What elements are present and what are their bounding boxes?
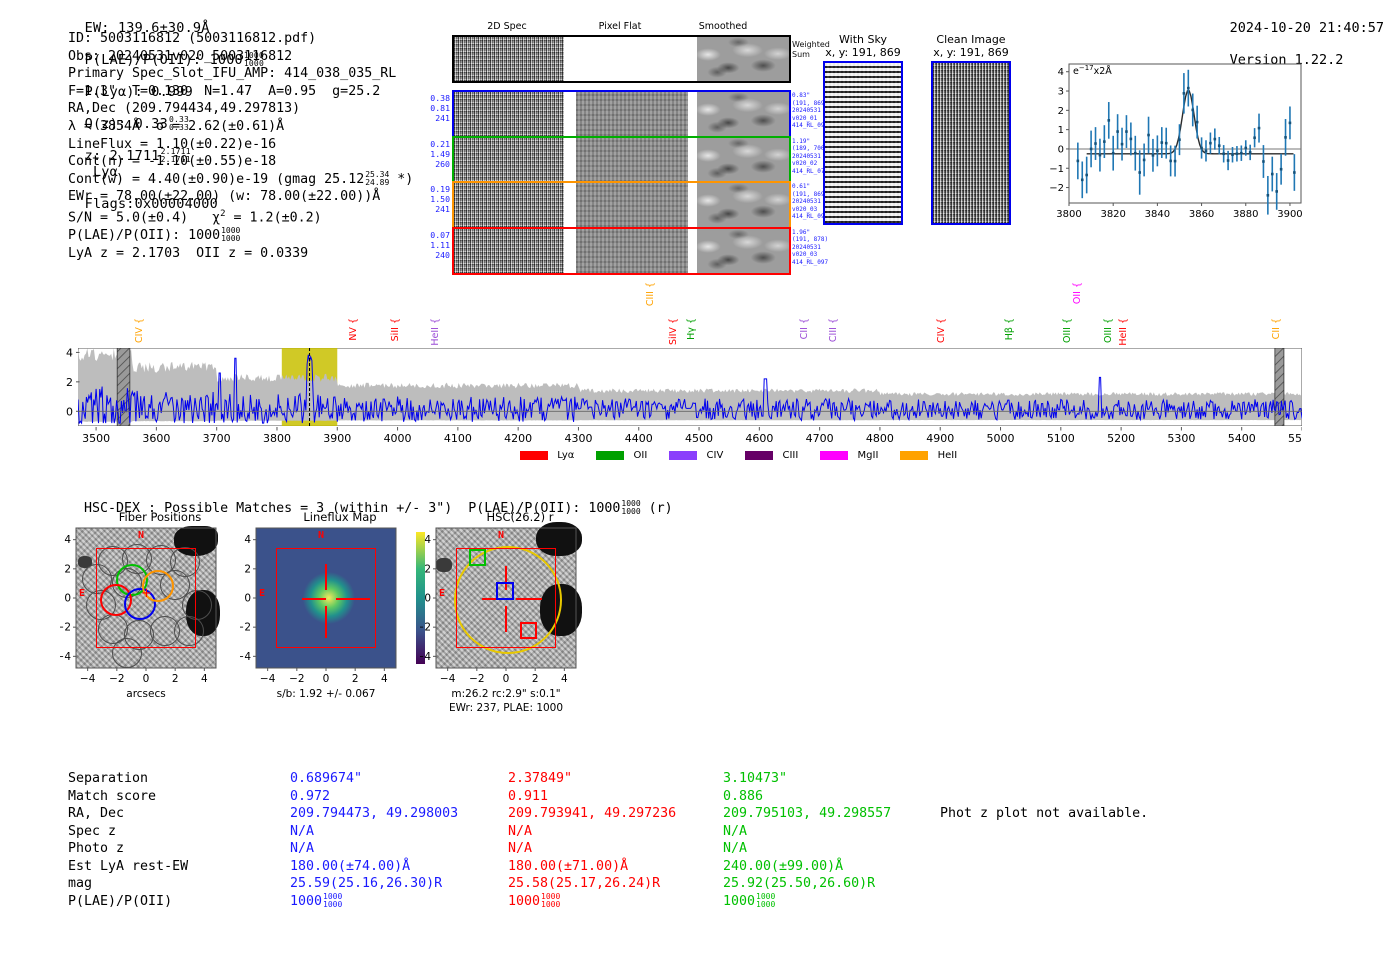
info-continuum-narrow: Cont(n) = -1.10(±0.55)e-18	[68, 153, 413, 171]
svg-text:3900: 3900	[323, 432, 351, 445]
svg-text:3: 3	[1058, 87, 1064, 98]
svg-text:−4: −4	[260, 673, 276, 685]
svg-text:4500: 4500	[685, 432, 713, 445]
spec2d-weighted-2dspec-image	[454, 37, 564, 81]
line-id-ciii: CIII {	[828, 318, 839, 342]
crosshair-h	[302, 598, 326, 600]
svg-text:4: 4	[1058, 67, 1064, 78]
spec2d-row2-left-label: 0.19 1.50 241	[430, 184, 450, 215]
spec2d-row1-left-label: 0.21 1.49 260	[430, 139, 450, 170]
line-id-cii: CII {	[1271, 318, 1282, 339]
match-table-label: Photo z	[68, 840, 188, 858]
line-id-ciii: CIII {	[645, 282, 656, 306]
lineflux-map-xlabel: s/b: 1.92 +/- 0.067	[240, 688, 412, 700]
svg-text:4000: 4000	[384, 432, 412, 445]
svg-text:4900: 4900	[926, 432, 954, 445]
match-table-cell: 100010001000	[723, 893, 891, 911]
svg-text:5400: 5400	[1228, 432, 1256, 445]
fiber-positions-title: Fiber Positions	[60, 510, 260, 524]
spec2d-title-pixelflat: Pixel Flat	[564, 21, 676, 32]
hsc-r-image: N E	[436, 528, 576, 668]
legend-label: CIV	[707, 450, 724, 461]
legend-label: HeII	[938, 450, 958, 461]
table-row: 0.19 1.50 241 0.61" (191, 869) 20240531 …	[452, 181, 791, 229]
svg-text:2: 2	[64, 563, 71, 575]
svg-text:−4: −4	[80, 673, 96, 685]
match-table-cell: N/A	[290, 840, 458, 858]
match-table-cell: 0.689674"	[290, 770, 458, 788]
match-table-label: mag	[68, 875, 188, 893]
match-table-cell: 180.00(±74.00)Å	[290, 858, 458, 876]
match-table-cell: 209.793941, 49.297236	[508, 805, 676, 823]
svg-text:3800: 3800	[1056, 209, 1081, 220]
svg-text:2: 2	[1058, 106, 1064, 117]
svg-text:4700: 4700	[806, 432, 834, 445]
match-table-cell: 240.00(±99.00)Å	[723, 858, 891, 876]
svg-text:2: 2	[532, 673, 539, 685]
legend-item-oii: OII	[596, 450, 647, 461]
svg-text:4100: 4100	[444, 432, 472, 445]
cutout-clean-subtitle: x, y: 191, 869	[928, 46, 1014, 59]
legend-swatch	[520, 451, 548, 460]
svg-text:3700: 3700	[203, 432, 231, 445]
match-table-label: Est LyA rest-EW	[68, 858, 188, 876]
match-table-label: Separation	[68, 770, 188, 788]
compass-e: E	[259, 588, 265, 599]
colorbar	[416, 532, 425, 664]
emission-line-zoom-svg: 380038203840386038803900−2−101234e−17x2Å	[1035, 52, 1307, 227]
svg-text:−1: −1	[1049, 164, 1064, 175]
spectrum-legend: Lyα OII CIV CIII MgII HeII	[520, 450, 979, 461]
sky-dark-blob	[436, 558, 452, 572]
spec2d-fiber-rows: 0.38 0.81 241 0.83" (191, 869) 20240531 …	[452, 90, 791, 275]
spec2d-row3-2dspec	[454, 229, 564, 273]
legend-item-mgii: MgII	[820, 450, 878, 461]
spec2d-title-smoothed: Smoothed	[677, 21, 769, 32]
cutout-clean-title: Clean Image	[928, 33, 1014, 46]
emission-line-zoom-plot: 380038203840386038803900−2−101234e−17x2Å	[1035, 52, 1307, 227]
svg-text:−4: −4	[440, 673, 456, 685]
svg-text:−2: −2	[109, 673, 124, 685]
svg-text:5200: 5200	[1107, 432, 1135, 445]
svg-text:4800: 4800	[866, 432, 894, 445]
match-marker-green	[469, 549, 486, 566]
center-marker: +	[141, 590, 152, 598]
line-id-heii: HeII {	[430, 318, 441, 346]
line-id-civ: CIV {	[936, 318, 947, 343]
match-table-cell: N/A	[508, 823, 676, 841]
legend-item-heii: HeII	[900, 450, 957, 461]
compass-n: N	[498, 530, 504, 541]
line-id-cii: CII {	[799, 318, 810, 339]
fiber-positions-xlabel: arcsecs	[60, 688, 232, 700]
spec2d-row3-left-label: 0.07 1.11 240	[430, 230, 450, 261]
line-id-siii: SiII {	[390, 318, 401, 341]
legend-label: OII	[634, 450, 648, 461]
svg-text:4: 4	[244, 534, 251, 546]
match-table-label: P(LAE)/P(OII)	[68, 893, 188, 911]
cutout-with-sky: With Sky x, y: 191, 869	[820, 33, 906, 225]
svg-text:4: 4	[561, 673, 568, 685]
line-id-hβ: Hβ {	[1004, 318, 1015, 340]
spec2d-row2-2dspec	[454, 183, 564, 227]
spec2d-row3-right-label: 1.96" (191, 878) 20240531 v020_03 414_RL…	[792, 229, 828, 267]
svg-text:3800: 3800	[263, 432, 291, 445]
info-id: ID: 5003116812 (5003116812.pdf)	[68, 30, 413, 48]
table-row: 0.07 1.11 240 1.96" (191, 878) 20240531 …	[452, 227, 791, 275]
spec2d-row1-smoothed	[697, 138, 789, 182]
line-id-siiv: SiIV {	[668, 318, 679, 345]
svg-text:3900: 3900	[1277, 209, 1302, 220]
match-table-cell: 25.59(25.16,26.30)R	[290, 875, 458, 893]
info-seeing-params: F=1.3" T=0.130 N=1.47 A=0.95 g=25.2	[68, 83, 413, 101]
info-plae-fraction: 10001000	[221, 227, 240, 243]
source-info-block: ID: 5003116812 (5003116812.pdf) Obs: 202…	[68, 30, 413, 262]
svg-text:3600: 3600	[142, 432, 170, 445]
match-table-label: RA, Dec	[68, 805, 188, 823]
svg-text:0: 0	[64, 593, 71, 605]
legend-label: CIII	[782, 450, 798, 461]
full-spectrum-svg	[78, 348, 1302, 426]
match-table-cell: N/A	[290, 823, 458, 841]
svg-text:2: 2	[172, 673, 179, 685]
svg-text:2: 2	[244, 563, 251, 575]
svg-text:3500: 3500	[82, 432, 110, 445]
info-redshifts: LyA z = 2.1703 OII z = 0.0339	[68, 245, 413, 263]
svg-text:4200: 4200	[504, 432, 532, 445]
svg-text:3860: 3860	[1189, 209, 1214, 220]
spec2d-weighted-smoothed-image	[697, 37, 789, 81]
line-id-oiii: OIII {	[1103, 318, 1114, 343]
match-table-cell: 25.92(25.50,26.60)R	[723, 875, 891, 893]
match-table-label: Match score	[68, 788, 188, 806]
match-table-column-green: 3.10473"0.886209.795103, 49.298557N/AN/A…	[723, 770, 891, 910]
spec2d-row1-2dspec	[454, 138, 564, 182]
svg-text:4: 4	[64, 534, 71, 546]
svg-text:4: 4	[381, 673, 388, 685]
match-table-cell: 2.37849"	[508, 770, 676, 788]
match-table-cell: 25.58(25.17,26.24)R	[508, 875, 676, 893]
spec2d-row0-smoothed	[697, 92, 789, 136]
hsc-header-band: (r)	[641, 501, 673, 516]
lineflux-map-title: Lineflux Map	[240, 510, 440, 524]
info-obs: Obs: 20240531v020_5003116812	[68, 48, 413, 66]
match-table-cell: 0.972	[290, 788, 458, 806]
match-table-cell: 180.00(±71.00)Å	[508, 858, 676, 876]
line-id-nv: NV {	[348, 318, 359, 341]
cutout-clean-image: Clean Image x, y: 191, 869	[928, 33, 1014, 225]
svg-text:4: 4	[424, 534, 431, 546]
hsc-header-plae-fraction: 10001000	[621, 500, 640, 516]
svg-text:−2: −2	[60, 622, 71, 634]
svg-text:0: 0	[424, 593, 431, 605]
spec2d-row0-left-label: 0.38 0.81 241	[430, 93, 450, 124]
legend-swatch	[669, 451, 697, 460]
full-spectrum-plot	[78, 348, 1302, 426]
svg-text:−2: −2	[1049, 183, 1064, 194]
svg-text:3880: 3880	[1233, 209, 1258, 220]
table-row: 0.21 1.49 260 1.19" (189, 700) 20240531 …	[452, 136, 791, 184]
svg-text:5500: 5500	[1288, 432, 1302, 445]
svg-text:−4: −4	[60, 651, 71, 663]
svg-text:0: 0	[1058, 144, 1064, 155]
match-table-cell: N/A	[508, 840, 676, 858]
compass-n: N	[138, 530, 144, 541]
spec2d-row0-2dspec	[454, 92, 564, 136]
hsc-r-xlabel: m:26.2 rc:2.9" s:0.1"	[420, 688, 592, 700]
legend-swatch	[820, 451, 848, 460]
svg-text:−4: −4	[240, 651, 251, 663]
line-id-heii: HeII {	[1118, 318, 1129, 346]
legend-swatch	[900, 451, 928, 460]
spec2d-weighted-sum-row: Weighted Sum	[452, 35, 791, 83]
legend-item-ciii: CIII	[745, 450, 798, 461]
spec2d-row3-smoothed	[697, 229, 789, 273]
svg-text:5100: 5100	[1047, 432, 1075, 445]
svg-text:0: 0	[503, 673, 510, 685]
match-table-column-red: 2.37849"0.911209.793941, 49.297236N/AN/A…	[508, 770, 676, 910]
crosshair-v	[325, 564, 327, 590]
svg-text:3840: 3840	[1145, 209, 1170, 220]
svg-text:0: 0	[143, 673, 150, 685]
svg-text:2: 2	[66, 376, 73, 389]
legend-label: Lyα	[557, 450, 574, 461]
svg-text:5300: 5300	[1167, 432, 1195, 445]
match-table-cell: 100010001000	[290, 893, 458, 911]
spectrum-x-axis: 3500360037003800390040004100420043004400…	[78, 427, 1302, 447]
spec2d-title-2dspec: 2D Spec	[452, 21, 562, 32]
crosshair-v	[505, 606, 507, 632]
svg-text:−2: −2	[240, 622, 251, 634]
info-continuum-wide: Cont(w) = 4.40(±0.90)e-19 (gmag 25.1225.…	[68, 171, 413, 189]
match-table-row-labels: SeparationMatch scoreRA, DecSpec zPhoto …	[68, 770, 188, 910]
match-table-cell: 100010001000	[508, 893, 676, 911]
compass-e: E	[439, 588, 445, 599]
svg-text:3820: 3820	[1100, 209, 1125, 220]
spec2d-row3-pixelflat	[576, 229, 688, 273]
match-table-cell: 0.911	[508, 788, 676, 806]
svg-text:−2: −2	[289, 673, 304, 685]
match-table-cell: 0.886	[723, 788, 891, 806]
match-table-cell: 209.794473, 49.298003	[290, 805, 458, 823]
crosshair-v	[325, 606, 327, 638]
match-marker-red	[520, 622, 537, 639]
svg-text:1: 1	[1058, 125, 1064, 136]
line-id-oiii: OIII {	[1062, 318, 1073, 343]
match-table-cell: 209.795103, 49.298557	[723, 805, 891, 823]
hsc-r-caption2: EWr: 237, PLAE: 1000	[420, 702, 592, 714]
info-plae-poii: P(LAE)/P(OII): 100010001000	[68, 227, 413, 245]
info-wavelength-sigma: λ = 3854Å σ = 2.62(±0.61)Å	[68, 118, 413, 136]
svg-text:−2: −2	[469, 673, 484, 685]
spec2d-row1-pixelflat	[576, 138, 688, 182]
svg-text:2: 2	[424, 563, 431, 575]
match-table-cell: N/A	[723, 840, 891, 858]
svg-text:4: 4	[66, 346, 73, 359]
svg-text:4400: 4400	[625, 432, 653, 445]
lineflux-map-image: N E	[256, 528, 396, 668]
match-table-cell: N/A	[723, 823, 891, 841]
info-lineflux: LineFlux = 1.10(±0.22)e-16	[68, 136, 413, 154]
info-sn-chi2: S/N = 5.0(±0.4) χ2 = 1.2(±0.2)	[68, 206, 413, 227]
svg-text:0: 0	[244, 593, 251, 605]
spec2d-row0-pixelflat	[576, 92, 688, 136]
legend-item-lyα: Lyα	[520, 450, 574, 461]
spec2d-row2-pixelflat	[576, 183, 688, 227]
match-marker-blue	[496, 582, 514, 600]
header-datetime: 2024-10-20 21:40:57	[1230, 20, 1384, 36]
info-ewr: EWr = 78.00(±22.00) (w: 78.00(±22.00))Å	[68, 188, 413, 206]
svg-text:2: 2	[352, 673, 359, 685]
photz-plot-note: Phot z plot not available.	[940, 806, 1148, 821]
legend-swatch	[745, 451, 773, 460]
compass-e: E	[79, 588, 85, 599]
svg-text:0: 0	[66, 405, 73, 418]
cutout-with-sky-subtitle: x, y: 191, 869	[820, 46, 906, 59]
line-id-civ: CIV {	[134, 318, 145, 343]
legend-item-civ: CIV	[669, 450, 723, 461]
svg-text:4600: 4600	[745, 432, 773, 445]
svg-text:5000: 5000	[987, 432, 1015, 445]
svg-text:0: 0	[323, 673, 330, 685]
spec2d-weighted-pixelflat-image	[576, 37, 688, 81]
info-radec: RA,Dec (209.794434,49.297813)	[68, 100, 413, 118]
legend-label: MgII	[858, 450, 879, 461]
cutout-with-sky-image	[823, 61, 903, 225]
spec2d-row2-smoothed	[697, 183, 789, 227]
hsc-r-title: HSC(26.2) r	[420, 510, 620, 524]
cutout-clean-image	[931, 61, 1011, 225]
info-gmag-fraction: 25.3424.89	[365, 171, 389, 187]
crosshair-h	[336, 598, 370, 600]
svg-text:4: 4	[201, 673, 208, 685]
match-table-column-blue: 0.689674"0.972209.794473, 49.298003N/AN/…	[290, 770, 458, 910]
spectrum-line-identifications: CIV {NV {SiII {HeII {CIII {SiIV {Hγ {CII…	[78, 280, 1302, 350]
match-table-cell: 3.10473"	[723, 770, 891, 788]
cutout-with-sky-title: With Sky	[820, 33, 906, 46]
line-id-hγ: Hγ {	[686, 318, 697, 340]
line-id-oii: OII {	[1072, 282, 1083, 304]
legend-swatch	[596, 451, 624, 460]
info-primary-spec-slot: Primary Spec_Slot_IFU_AMP: 414_038_035_R…	[68, 65, 413, 83]
match-table-label: Spec z	[68, 823, 188, 841]
fiber-positions-image: + N E	[76, 528, 216, 668]
compass-n: N	[318, 530, 324, 541]
table-row: 0.38 0.81 241 0.83" (191, 869) 20240531 …	[452, 90, 791, 138]
spectrum-y-axis: 024	[50, 348, 76, 426]
svg-text:4300: 4300	[564, 432, 592, 445]
crosshair-h	[516, 598, 542, 600]
